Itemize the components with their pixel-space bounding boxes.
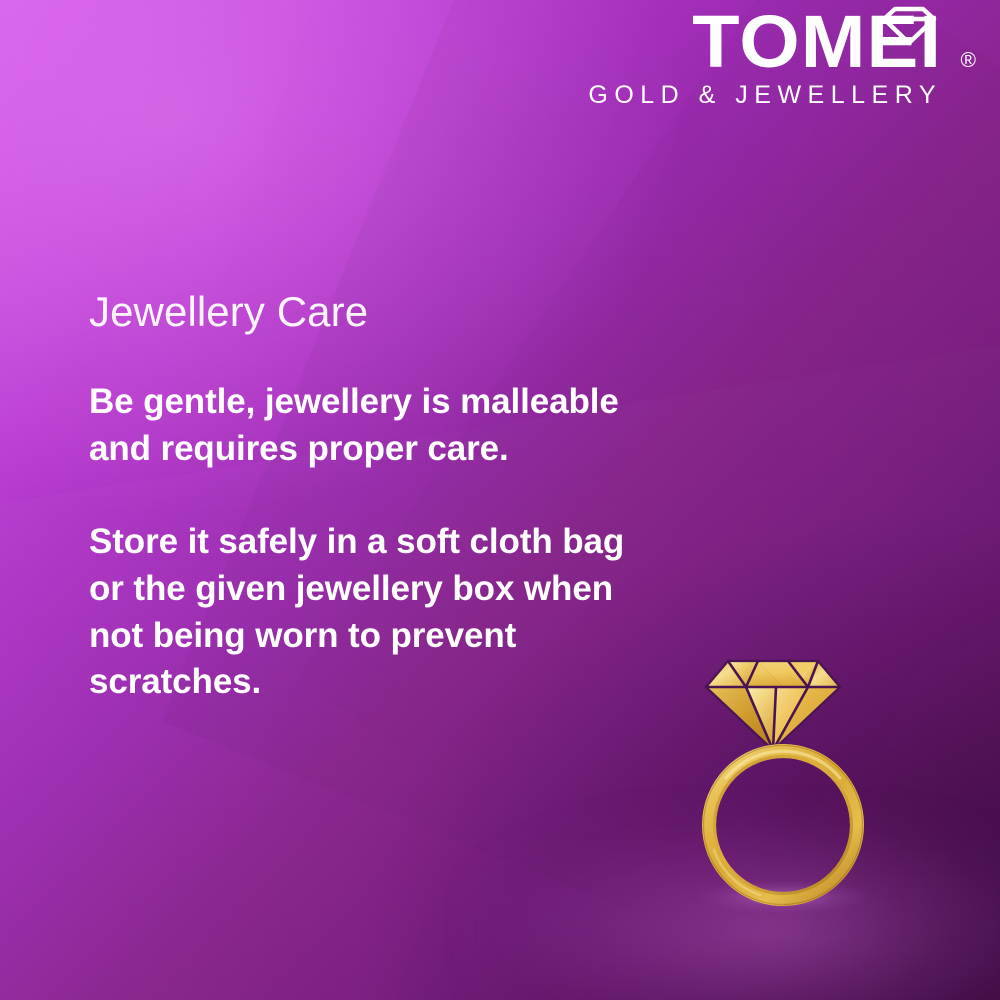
body-paragraph-2: Store it safely in a soft cloth bag or t… bbox=[89, 519, 649, 707]
gem-icon bbox=[706, 661, 840, 750]
diamond-ring-illustration bbox=[688, 645, 878, 915]
page-title: Jewellery Care bbox=[89, 288, 649, 335]
brand-logo: TOMEI ® GOLD & JEWELLERY bbox=[588, 6, 976, 110]
jewellery-care-poster: TOMEI ® GOLD & JEWELLERY Jewellery Care … bbox=[0, 0, 1000, 1000]
registered-trademark-symbol: ® bbox=[961, 50, 976, 71]
copy-block: Jewellery Care Be gentle, jewellery is m… bbox=[89, 288, 649, 706]
logo-wordmark-text: TOMEI bbox=[692, 6, 942, 77]
body-paragraph-1: Be gentle, jewellery is malleable and re… bbox=[89, 379, 649, 473]
logo-tagline: GOLD & JEWELLERY bbox=[588, 81, 942, 110]
logo-wordmark-group: TOMEI ® bbox=[704, 6, 976, 77]
